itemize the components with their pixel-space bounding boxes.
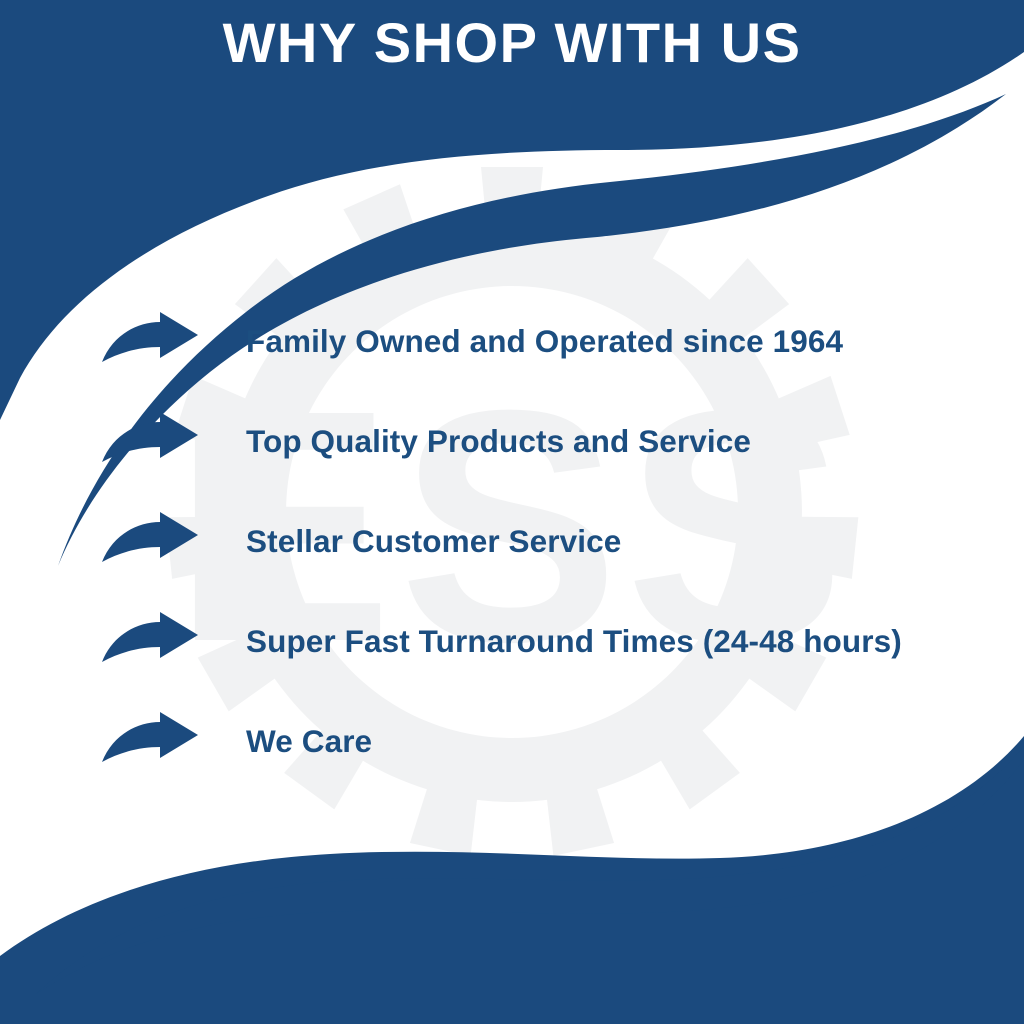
curved-arrow-right-icon (100, 412, 200, 470)
list-item: We Care (100, 691, 1000, 791)
list-item-label: We Care (246, 724, 1000, 759)
curved-arrow-right-icon (100, 312, 200, 370)
list-item-label: Super Fast Turnaround Times (24-48 hours… (246, 624, 1000, 659)
list-item: Top Quality Products and Service (100, 391, 1000, 491)
why-shop-with-us-poster: ESS WHY SHOP WITH US Family Owned and Op… (0, 0, 1024, 1024)
list-item-label: Family Owned and Operated since 1964 (246, 324, 1000, 359)
curved-arrow-right-icon (100, 612, 200, 670)
list-item-label: Top Quality Products and Service (246, 424, 1000, 459)
list-item: Family Owned and Operated since 1964 (100, 291, 1000, 391)
list-item: Stellar Customer Service (100, 491, 1000, 591)
curved-arrow-right-icon (100, 712, 200, 770)
benefits-list: Family Owned and Operated since 1964 Top… (100, 291, 1000, 791)
page-title: WHY SHOP WITH US (0, 14, 1024, 73)
list-item: Super Fast Turnaround Times (24-48 hours… (100, 591, 1000, 691)
list-item-label: Stellar Customer Service (246, 524, 1000, 559)
curved-arrow-right-icon (100, 512, 200, 570)
